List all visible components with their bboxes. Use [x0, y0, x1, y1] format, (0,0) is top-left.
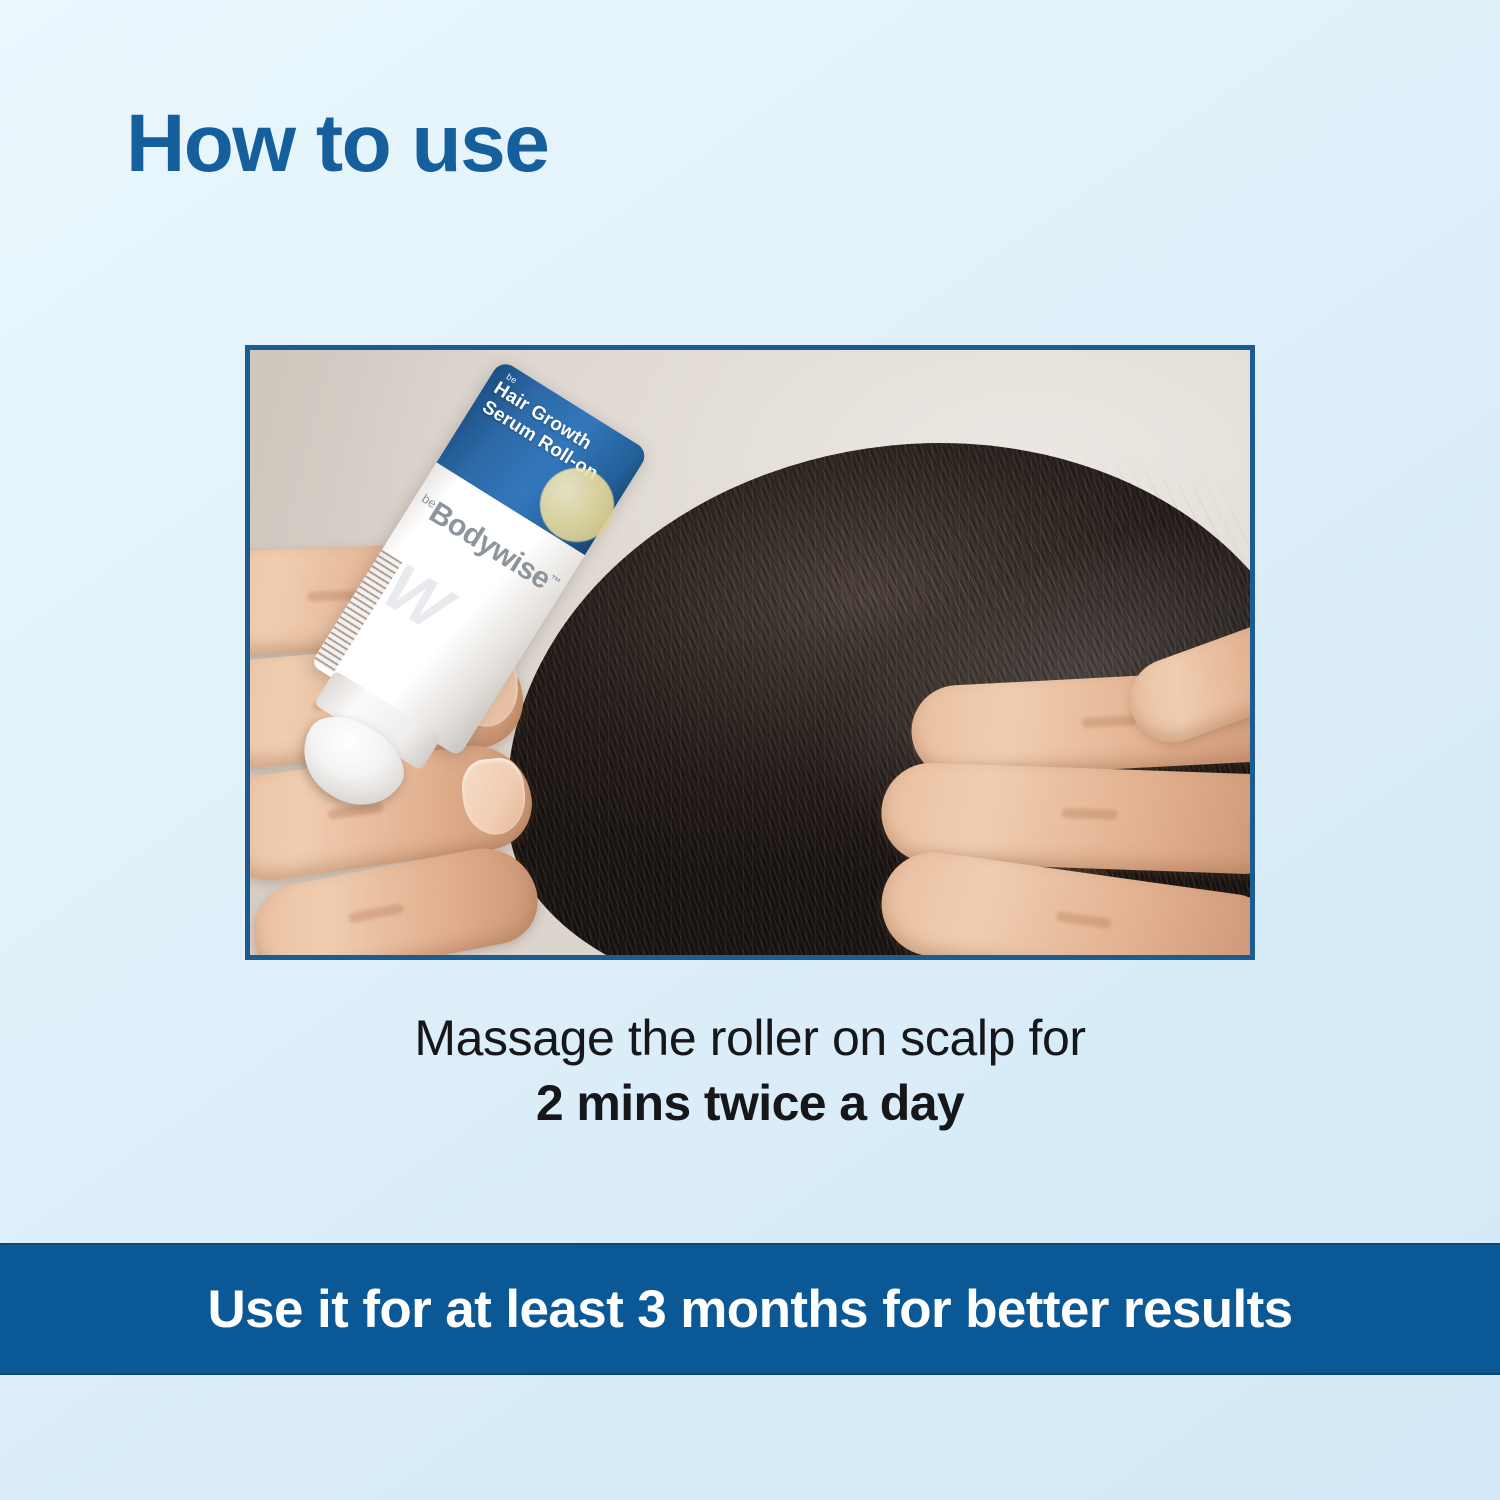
bottom-banner: Use it for at least 3 months for better … [0, 1243, 1500, 1375]
caption-line-2: 2 mins twice a day [0, 1073, 1500, 1134]
how-to-use-infographic: How to use [0, 0, 1500, 1500]
bottom-banner-text: Use it for at least 3 months for better … [207, 1279, 1292, 1340]
page-title: How to use [126, 103, 548, 185]
caption: Massage the roller on scalp for 2 mins t… [0, 1008, 1500, 1134]
photo-canvas: be Hair Growth Serum Roll-on beBodywise™… [250, 350, 1250, 955]
instruction-photo: be Hair Growth Serum Roll-on beBodywise™… [245, 345, 1255, 960]
knuckle-middle [1062, 808, 1118, 820]
serum-bead [540, 468, 614, 542]
right-hand [844, 644, 1250, 955]
caption-line-1: Massage the roller on scalp for [0, 1008, 1500, 1069]
